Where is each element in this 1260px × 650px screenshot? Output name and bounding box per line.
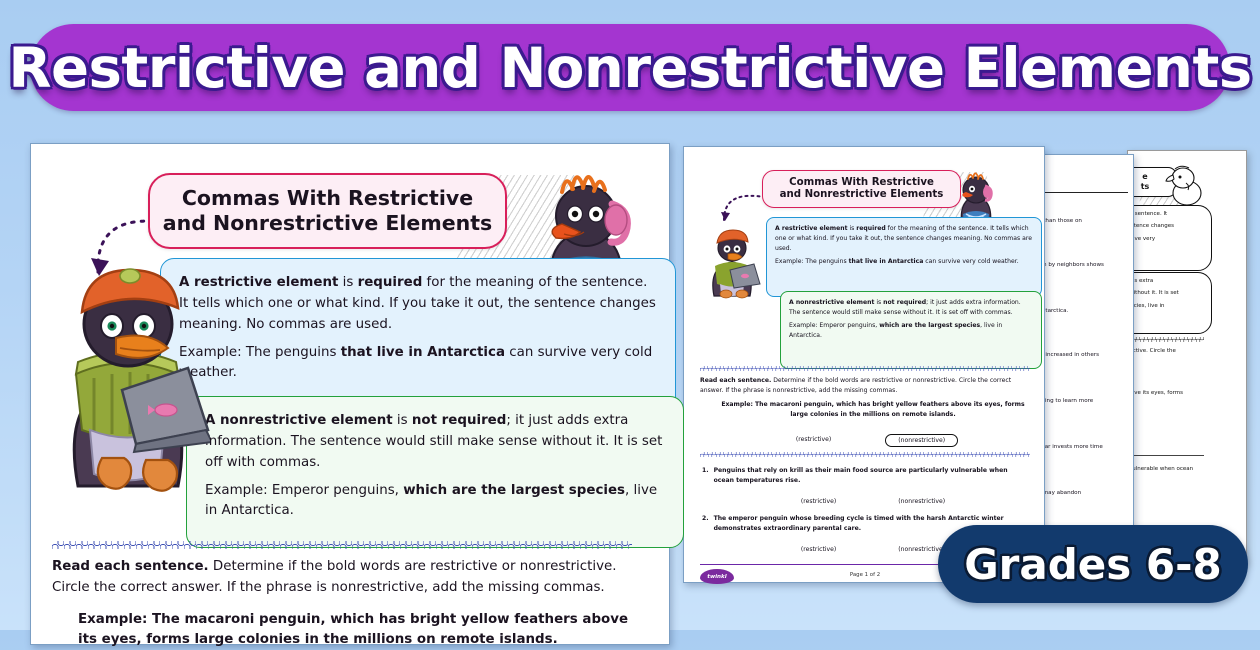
restrictive-rule: A restrictive element is required for th… [179, 273, 657, 335]
title-banner: Restrictive and Nonrestrictive Elements [30, 24, 1230, 111]
nonrestrictive-box: A nonrestrictive element is not required… [186, 396, 684, 548]
worksheet-title-line2: and Nonrestrictive Elements [163, 211, 492, 236]
worksheet-title-line1: Commas With Restrictive [182, 186, 473, 211]
restrictive-example: Example: The penguins that live in Antar… [179, 343, 657, 385]
nonrestrictive-example-bold-p2: which are the largest species [879, 322, 980, 329]
question-1-answers: (restrictive) (nonrestrictive) [716, 496, 1030, 507]
page3-fragment-5: year invests more time [1038, 444, 1132, 452]
question-1-p2: 1. Penguins that rely on krill as their … [702, 466, 1030, 486]
bw-box1-line1: the sentence. It [1124, 210, 1206, 219]
bw-box2-line3: species, live in [1124, 302, 1206, 311]
page3-fragment-0: e than those on [1038, 218, 1132, 226]
question-2-prefix: The emperor penguin [714, 515, 790, 522]
question-1-prefix: Penguins [714, 467, 748, 474]
question-2-suffix: demonstrates extraordinary parental care… [714, 525, 861, 532]
worksheet-title-box-p2: Commas With Restrictive and Nonrestricti… [762, 170, 961, 208]
restrictive-example-bold-p2: that live in Antarctica [849, 258, 924, 265]
poster-canvas: Restrictive and Nonrestrictive Elements … [0, 0, 1260, 630]
grade-badge: Grades 6-8 [938, 525, 1248, 603]
bw-divider [1124, 455, 1204, 456]
worked-example-prefix: Example: The macaroni penguin, [78, 612, 330, 627]
restrictive-required-p2: required [856, 225, 885, 232]
bw-box1-line3: urvive very [1124, 235, 1206, 244]
restrictive-example-prefix-p2: Example: The penguins [775, 258, 849, 265]
poster-title: Restrictive and Nonrestrictive Elements [18, 24, 1242, 111]
worked-example-p1: Example: The macaroni penguin, which has… [78, 610, 648, 650]
q1-option-restrictive[interactable]: (restrictive) [793, 496, 844, 507]
question-1-number: 1. [702, 466, 709, 486]
question-2-number: 2. [702, 514, 709, 534]
bw-box2-line2: e without it. It is set [1124, 289, 1206, 298]
penguin-illustration-bw [1162, 163, 1208, 207]
option-restrictive-example-p2[interactable]: (restrictive) [788, 434, 839, 447]
nonrestrictive-example-prefix-p2: Example: Emperor penguins, [789, 322, 879, 329]
nonrestrictive-rule: A nonrestrictive element is not required… [205, 411, 665, 473]
bw-fragment-1: above its eyes, forms [1124, 390, 1208, 398]
q1-option-nonrestrictive[interactable]: (nonrestrictive) [890, 496, 953, 507]
worked-example-answers-p2: (restrictive) (nonrestrictive) [716, 434, 1030, 447]
bw-box2-line1: adds extra [1124, 277, 1206, 286]
page3-fragment-2: Antarctica. [1038, 308, 1132, 316]
page3-fragment-6: s may abandon [1038, 490, 1132, 498]
q2-option-restrictive[interactable]: (restrictive) [793, 544, 844, 555]
restrictive-box-p2: A restrictive element is required for th… [766, 217, 1042, 297]
restrictive-rule-connector-p2: is [848, 225, 857, 232]
nonrestrictive-notrequired: not required [412, 413, 506, 428]
wavy-divider-top-p2 [700, 366, 1030, 371]
restrictive-example-bold: that live in Antarctica [341, 345, 505, 360]
worksheet-title-box: Commas With Restrictive and Nonrestricti… [148, 173, 507, 249]
instructions-p1: Read each sentence. Determine if the bol… [52, 556, 632, 598]
question-1-bold: that rely on krill as their main food so… [747, 467, 893, 474]
question-2-bold: whose breeding cycle is timed with the h… [790, 515, 1004, 522]
worksheet-title-frag1: e [1142, 172, 1147, 182]
nonrestrictive-term: A nonrestrictive element [205, 413, 393, 428]
restrictive-rule-p2: A restrictive element is required for th… [775, 224, 1033, 254]
nonrestrictive-rule-connector-p2: is [874, 299, 883, 306]
nonrestrictive-example: Example: Emperor penguins, which are the… [205, 481, 665, 523]
option-nonrestrictive-example-p2[interactable]: (nonrestrictive) [885, 434, 958, 447]
instructions-bold-p2: Read each sentence. [700, 377, 771, 384]
bw-fragment-2: y vulnerable when ocean [1124, 466, 1208, 474]
nonrestrictive-example-p2: Example: Emperor penguins, which are the… [789, 321, 1033, 341]
restrictive-rule-connector: is [338, 275, 357, 290]
penguin-laptop-illustration-p2 [700, 226, 764, 302]
worked-example-prefix-p2: Example: The macaroni penguin, [721, 401, 836, 408]
worked-example-p2: Example: The macaroni penguin, which has… [716, 400, 1030, 420]
worked-example-suffix: forms large colonies in the millions on … [142, 632, 558, 647]
worksheet-title-frag2: ts [1141, 182, 1150, 192]
page3-fragment-1: ien by neighbors shows [1038, 262, 1132, 270]
nonrestrictive-rule-connector: is [393, 413, 412, 428]
bw-fragment-0: strictive. Circle the [1124, 348, 1208, 356]
restrictive-required: required [358, 275, 423, 290]
wavy-divider-bw [1124, 337, 1204, 342]
restrictive-term-p2: A restrictive element [775, 225, 848, 232]
wavy-divider-p1 [52, 541, 632, 549]
restrictive-example-p2: Example: The penguins that live in Antar… [775, 257, 1033, 267]
instructions-bold: Read each sentence. [52, 559, 209, 574]
restrictive-example-suffix-p2: can survive very cold weather. [923, 258, 1018, 265]
worksheet-title-line1-p2: Commas With Restrictive [789, 177, 934, 189]
wavy-divider-bottom-p2 [700, 452, 1030, 457]
nonrestrictive-example-bold: which are the largest species [403, 483, 625, 498]
nonrestrictive-example-prefix: Example: Emperor penguins, [205, 483, 403, 498]
worksheet-title-line2-p2: and Nonrestrictive Elements [780, 189, 944, 201]
nonrestrictive-box-p2: A nonrestrictive element is not required… [780, 291, 1042, 369]
penguin-laptop-illustration [42, 262, 210, 500]
page3-fragment-4: oping to learn more [1038, 398, 1132, 406]
nonrestrictive-notrequired-p2: not required [883, 299, 926, 306]
bw-box1-line2: sentence changes [1124, 222, 1206, 231]
page3-fragment-3: at increased in others [1038, 352, 1132, 360]
instructions-p2: Read each sentence. Determine if the bol… [700, 376, 1030, 396]
grade-badge-label: Grades 6-8 [938, 525, 1248, 603]
page3-top-rule [1040, 192, 1128, 193]
worked-example-bold-p2: which has bright yellow feathers above i… [836, 401, 1003, 408]
nonrestrictive-rule-p2: A nonrestrictive element is not required… [789, 298, 1033, 318]
restrictive-box: A restrictive element is required for th… [160, 258, 676, 413]
nonrestrictive-term-p2: A nonrestrictive element [789, 299, 874, 306]
question-1-text: Penguins that rely on krill as their mai… [714, 466, 1030, 486]
